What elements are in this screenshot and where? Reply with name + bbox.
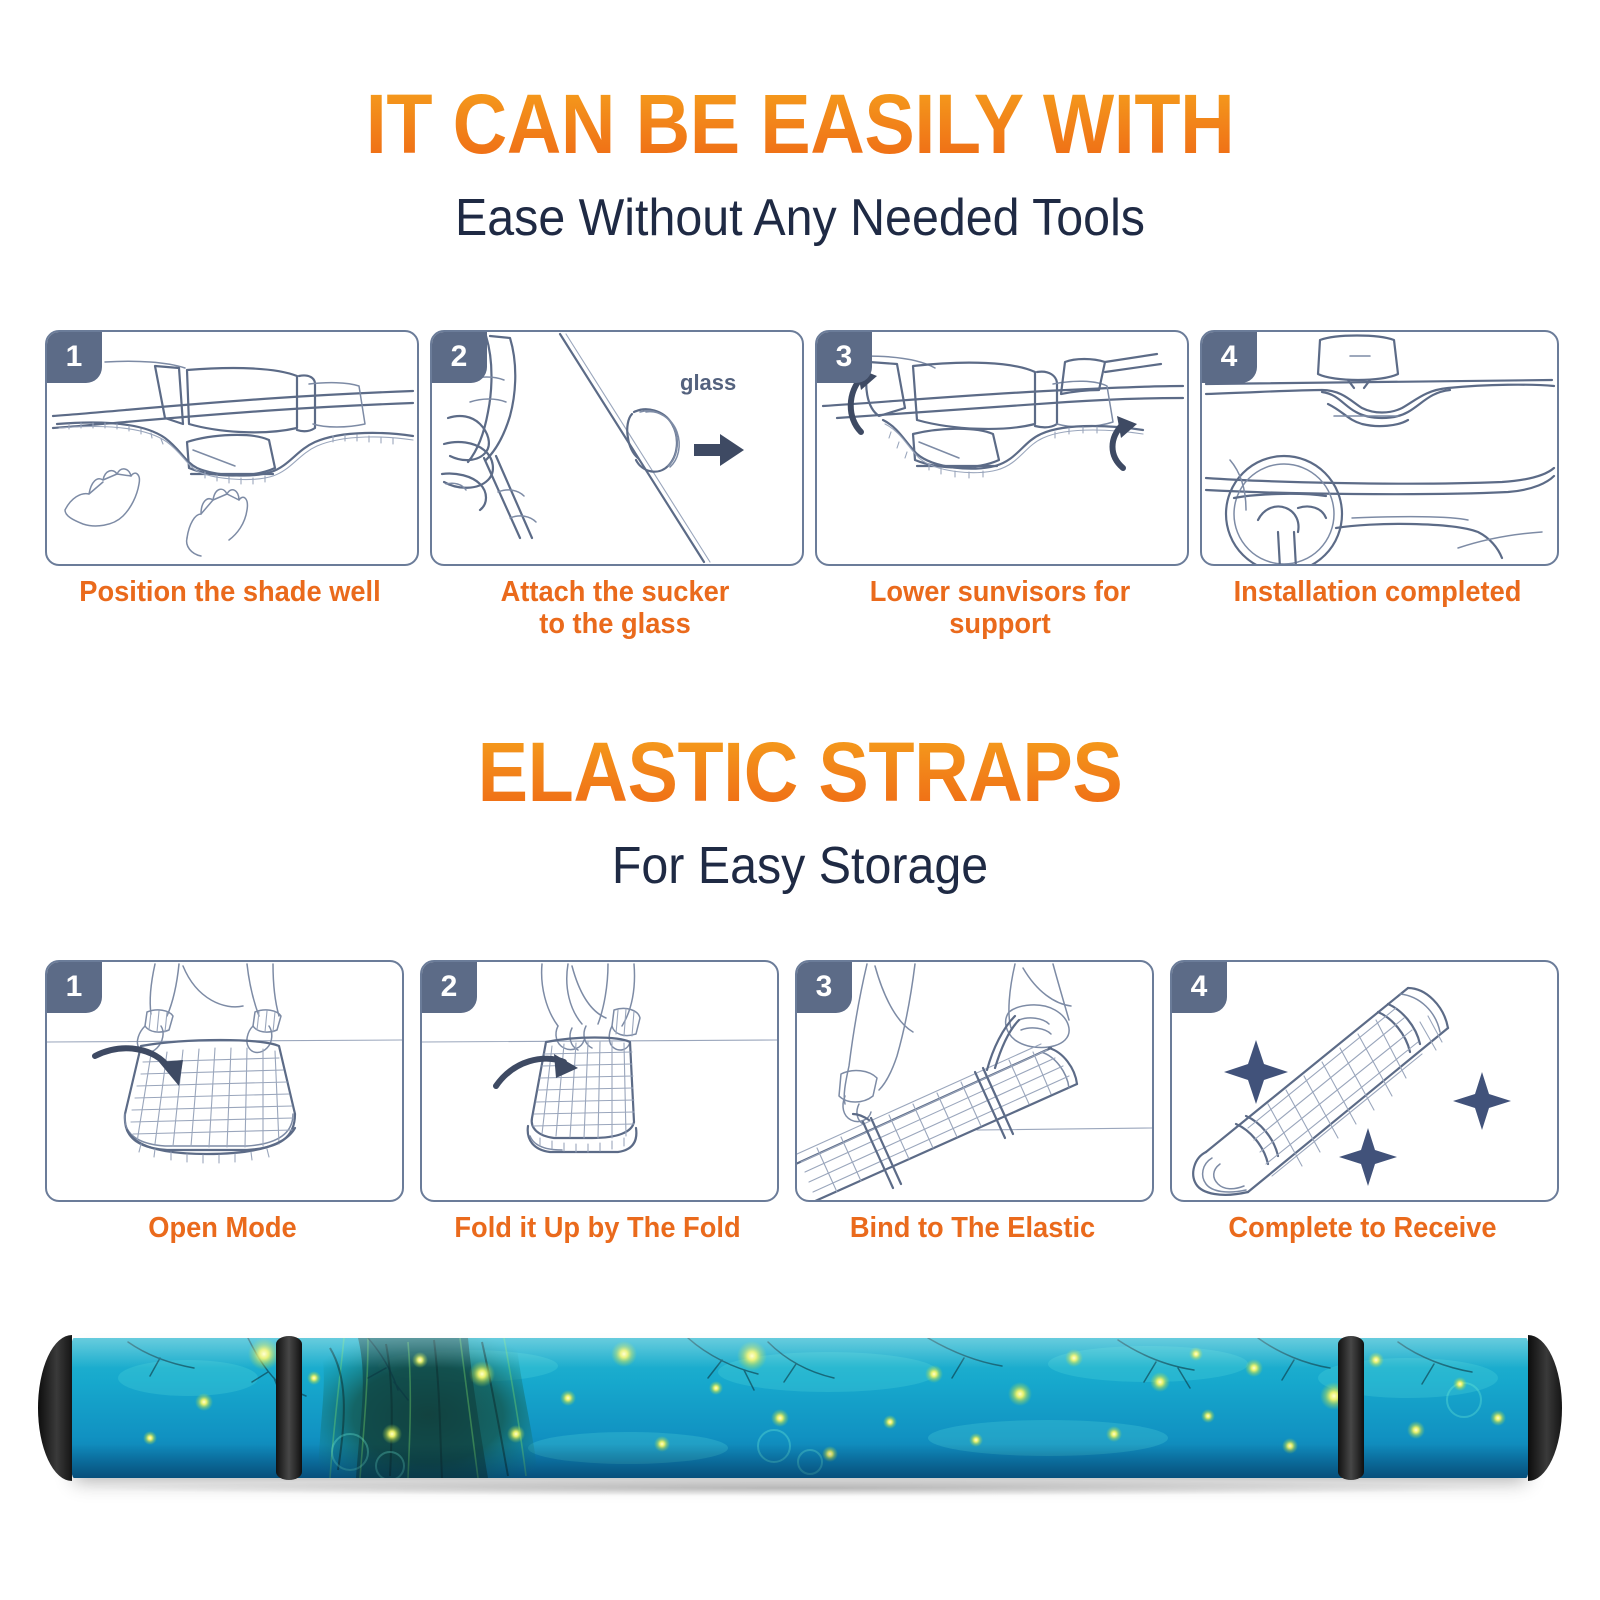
product-shadow xyxy=(94,1480,1506,1496)
step-number-badge: 4 xyxy=(1171,961,1227,1013)
step-panel-install-1: 1 xyxy=(45,330,419,566)
roll-end-cap-right xyxy=(1528,1335,1562,1481)
step-number-badge: 2 xyxy=(431,331,487,383)
shade-rolled-sparkle-illustration xyxy=(1172,962,1557,1200)
step-caption-install-3: Lower sunvisors for support xyxy=(817,576,1184,641)
step-caption-storage-2: Fold it Up by The Fold xyxy=(421,1212,774,1244)
elastic-strap xyxy=(1338,1336,1364,1480)
step-caption-storage-3: Bind to The Elastic xyxy=(796,1212,1149,1244)
step-panel-storage-1: 1 xyxy=(45,960,404,1202)
step-panel-install-3: 3 xyxy=(815,330,1189,566)
step-caption-install-4: Installation completed xyxy=(1201,576,1554,608)
step-number-badge: 1 xyxy=(46,331,102,383)
step-panel-storage-4: 4 xyxy=(1170,960,1559,1202)
step-caption-storage-4: Complete to Receive xyxy=(1182,1212,1544,1244)
car-interior-hands-illustration xyxy=(47,332,417,564)
hand-suction-cup-illustration: glass xyxy=(432,332,802,564)
sparkle-icon xyxy=(1339,1128,1397,1186)
product-photo xyxy=(38,1338,1562,1478)
storage-steps-row: 1 xyxy=(0,960,1600,1205)
elastic-strap xyxy=(276,1336,302,1480)
section-2-subtitle: For Easy Storage xyxy=(56,840,1544,892)
step-panel-install-4: 4 xyxy=(1200,330,1559,566)
glass-annotation-label: glass xyxy=(680,370,736,395)
sparkle-icon xyxy=(1453,1072,1511,1130)
step-panel-install-2: 2 glass xyxy=(430,330,804,566)
step-caption-install-1: Position the shade well xyxy=(56,576,404,608)
section-2-title: ELASTIC STRAPS xyxy=(80,730,1520,814)
section-1-title: IT CAN BE EASILY WITH xyxy=(80,82,1520,166)
step-number-badge: 3 xyxy=(796,961,852,1013)
install-steps-row: 1 xyxy=(0,330,1600,640)
roll-end-cap-left xyxy=(38,1335,72,1481)
step-number-badge: 2 xyxy=(421,961,477,1013)
step-panel-storage-2: 2 xyxy=(420,960,779,1202)
step-number-badge: 4 xyxy=(1201,331,1257,383)
sunvisors-down-illustration xyxy=(817,332,1187,564)
step-number-badge: 1 xyxy=(46,961,102,1013)
infographic-page: IT CAN BE EASILY WITH Ease Without Any N… xyxy=(0,0,1600,1600)
step-panel-storage-3: 3 xyxy=(795,960,1154,1202)
step-number-badge: 3 xyxy=(816,331,872,383)
section-1-subtitle: Ease Without Any Needed Tools xyxy=(56,192,1544,244)
step-caption-install-2: Attach the sucker to the glass xyxy=(432,576,799,641)
step-caption-storage-1: Open Mode xyxy=(56,1212,390,1244)
